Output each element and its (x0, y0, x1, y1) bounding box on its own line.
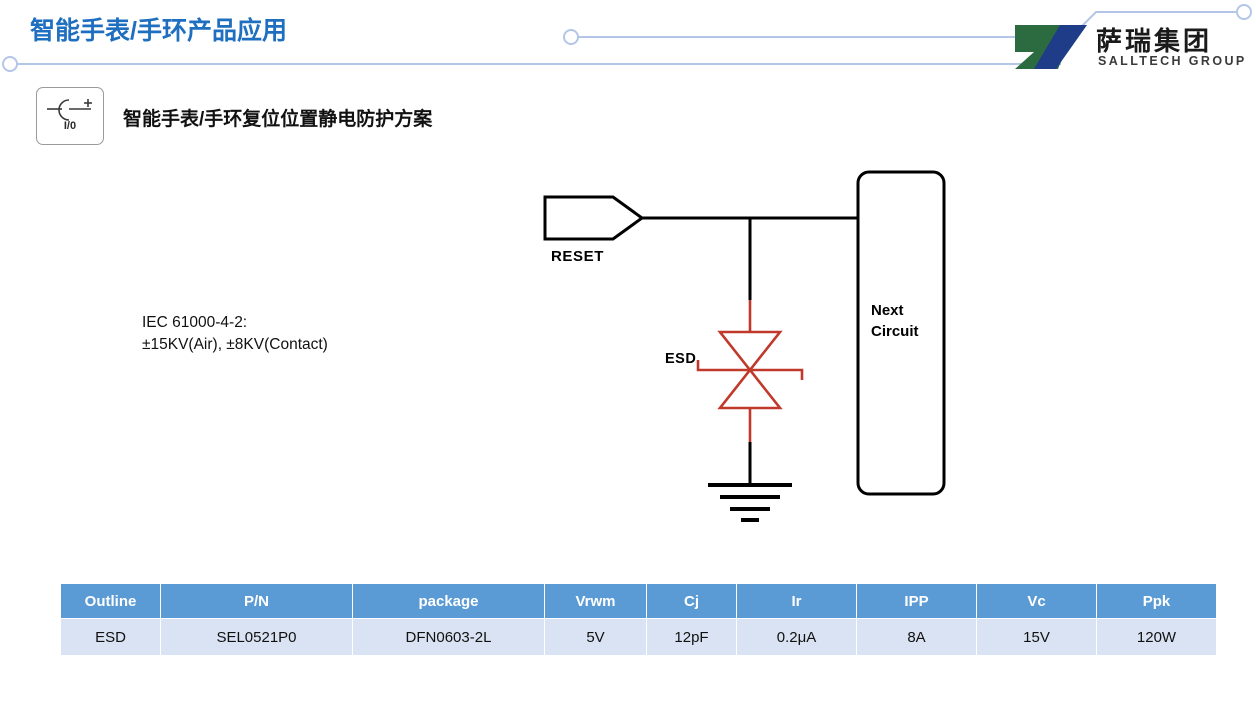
cell-vrwm: 5V (545, 619, 647, 656)
iec-line-1: IEC 61000-4-2: (142, 312, 328, 334)
spec-table: Outline P/N package Vrwm Cj Ir IPP Vc Pp… (60, 583, 1217, 656)
io-symbol-icon (37, 88, 103, 144)
column-header-ipp: IPP (857, 584, 977, 619)
column-header-package: package (353, 584, 545, 619)
cell-vc: 15V (977, 619, 1097, 656)
esd-label: ESD (665, 351, 696, 367)
column-header-outline: Outline (61, 584, 161, 619)
cell-outline: ESD (61, 619, 161, 656)
column-header-pn: P/N (161, 584, 353, 619)
column-header-ppk: Ppk (1097, 584, 1217, 619)
table-header-row: Outline P/N package Vrwm Cj Ir IPP Vc Pp… (61, 584, 1217, 619)
next-circuit-label-line1: Next (871, 300, 919, 321)
column-header-cj: Cj (647, 584, 737, 619)
column-header-ir: Ir (737, 584, 857, 619)
io-badge-label: I/0 (37, 120, 103, 132)
reset-label: RESET (551, 248, 604, 265)
reset-connector-shape (545, 197, 642, 239)
cell-cj: 12pF (647, 619, 737, 656)
cell-ppk: 120W (1097, 619, 1217, 656)
logo-name-en: SALLTECH GROUP (1098, 54, 1247, 68)
cell-ir: 0.2μA (737, 619, 857, 656)
salltech-logo-mark (1012, 22, 1090, 72)
iec-standard-note: IEC 61000-4-2: ±15KV(Air), ±8KV(Contact) (142, 312, 328, 356)
cell-pn: SEL0521P0 (161, 619, 353, 656)
column-header-vc: Vc (977, 584, 1097, 619)
next-circuit-label: Next Circuit (871, 300, 919, 342)
io-badge-icon: I/0 (36, 87, 104, 145)
section-subtitle: 智能手表/手环复位位置静电防护方案 (123, 104, 432, 131)
cell-ipp: 8A (857, 619, 977, 656)
column-header-vrwm: Vrwm (545, 584, 647, 619)
iec-line-2: ±15KV(Air), ±8KV(Contact) (142, 334, 328, 356)
brand-logo: 萨瑞集团 SALLTECH GROUP (1012, 20, 1252, 76)
logo-name-cn: 萨瑞集团 (1096, 21, 1212, 58)
next-circuit-label-line2: Circuit (871, 321, 919, 342)
table-row: ESD SEL0521P0 DFN0603-2L 5V 12pF 0.2μA 8… (61, 619, 1217, 656)
page-title: 智能手表/手环产品应用 (30, 11, 287, 47)
cell-package: DFN0603-2L (353, 619, 545, 656)
